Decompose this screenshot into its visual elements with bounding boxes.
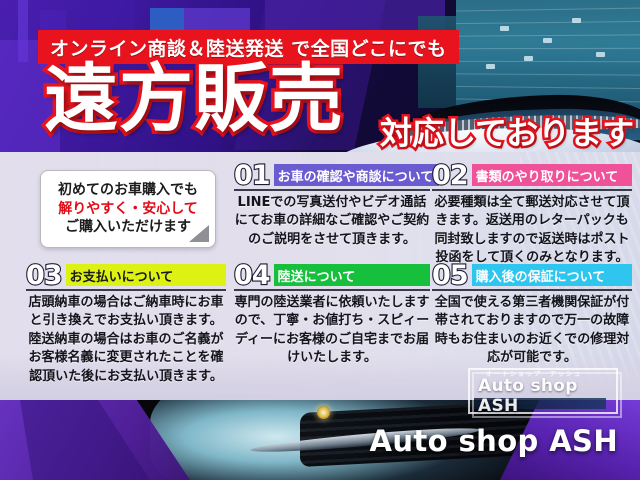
callout-tail [189, 225, 209, 242]
info-panel-01: 01 お車の確認や商談について LINEでの写真送付やビデオ通話にてお車の詳細な… [234, 162, 430, 249]
panel-number: 03 [26, 265, 64, 287]
info-panel-04: 04 陸送について 専門の陸送業者に依頼いたしますので、丁寧・お値打ち・スピィー… [234, 262, 430, 368]
hero-section: オンライン商談＆陸送発送 で全国どこにでも 遠方販売 対応しております [0, 0, 640, 152]
callout-line-3: ご購入いただけます [65, 218, 191, 237]
footer-shop-name: Auto shop ASH [370, 424, 618, 458]
watermark-name: Auto shop ASH [478, 376, 618, 416]
panel-label: 書類のやり取りについて [472, 164, 632, 186]
callout-line-1: 初めてのお車購入でも [58, 181, 198, 200]
callout-line-2: 解りやすく・安心して [58, 200, 198, 219]
hero-title: 遠方販売 [44, 62, 344, 136]
panel-body: LINEでの写真送付やビデオ通話にてお車の詳細なご確認やご契約のご説明をさせて頂… [234, 191, 430, 249]
panel-number: 04 [234, 265, 272, 287]
car-fog-lamp [317, 406, 330, 419]
panel-body: 店頭納車の場合はご納車時にお車と引き換えでお支払い頂きます。陸送納車の場合はお車… [26, 291, 226, 386]
panel-number: 01 [234, 165, 272, 187]
panel-label: お支払いについて [66, 264, 226, 286]
info-panel-02: 02 書類のやり取りについて 必要種類は全て郵送対応させて頂きます。返送用のレタ… [432, 162, 632, 268]
advertisement-banner: オンライン商談＆陸送発送 で全国どこにでも 遠方販売 対応しております 初めての… [0, 0, 640, 480]
hero-subtitle: 対応しております [380, 108, 634, 152]
panel-body: 専門の陸送業者に依頼いたしますので、丁寧・お値打ち・スピィーディーにお客様のご自… [234, 291, 430, 368]
watermark-logo: オートショップ アッシュ Auto shop ASH [468, 368, 618, 414]
panel-number: 02 [432, 165, 470, 187]
panel-header: 03 お支払いについて [26, 262, 226, 287]
panel-label: お車の確認や商談について [274, 164, 440, 186]
panel-header: 02 書類のやり取りについて [432, 162, 632, 187]
tower-light [524, 56, 533, 61]
panel-header: 05 購入後の保証について [432, 262, 632, 287]
panel-number: 05 [432, 265, 470, 287]
panel-label: 購入後の保証について [472, 264, 632, 286]
tower-light [486, 64, 495, 69]
tower-light [596, 52, 605, 57]
info-panel-03: 03 お支払いについて 店頭納車の場合はご納車時にお車と引き換えでお支払い頂きま… [26, 262, 226, 386]
intro-callout-card: 初めてのお車購入でも 解りやすく・安心して ご購入いただけます [40, 170, 216, 248]
tower-light [543, 38, 552, 43]
panel-header: 01 お車の確認や商談について [234, 162, 430, 187]
tower-light [572, 18, 581, 23]
tower-light [500, 26, 509, 31]
panel-label: 陸送について [274, 264, 430, 286]
panel-header: 04 陸送について [234, 262, 430, 287]
panel-body: 必要種類は全て郵送対応させて頂きます。返送用のレターパックも同封致しますので返送… [432, 191, 632, 268]
info-panel-05: 05 購入後の保証について 全国で使える第三者機関保証が付帯されておりますので万… [432, 262, 632, 368]
panel-body: 全国で使える第三者機関保証が付帯されておりますので万一の故障時もお住まいのお近く… [432, 291, 632, 368]
